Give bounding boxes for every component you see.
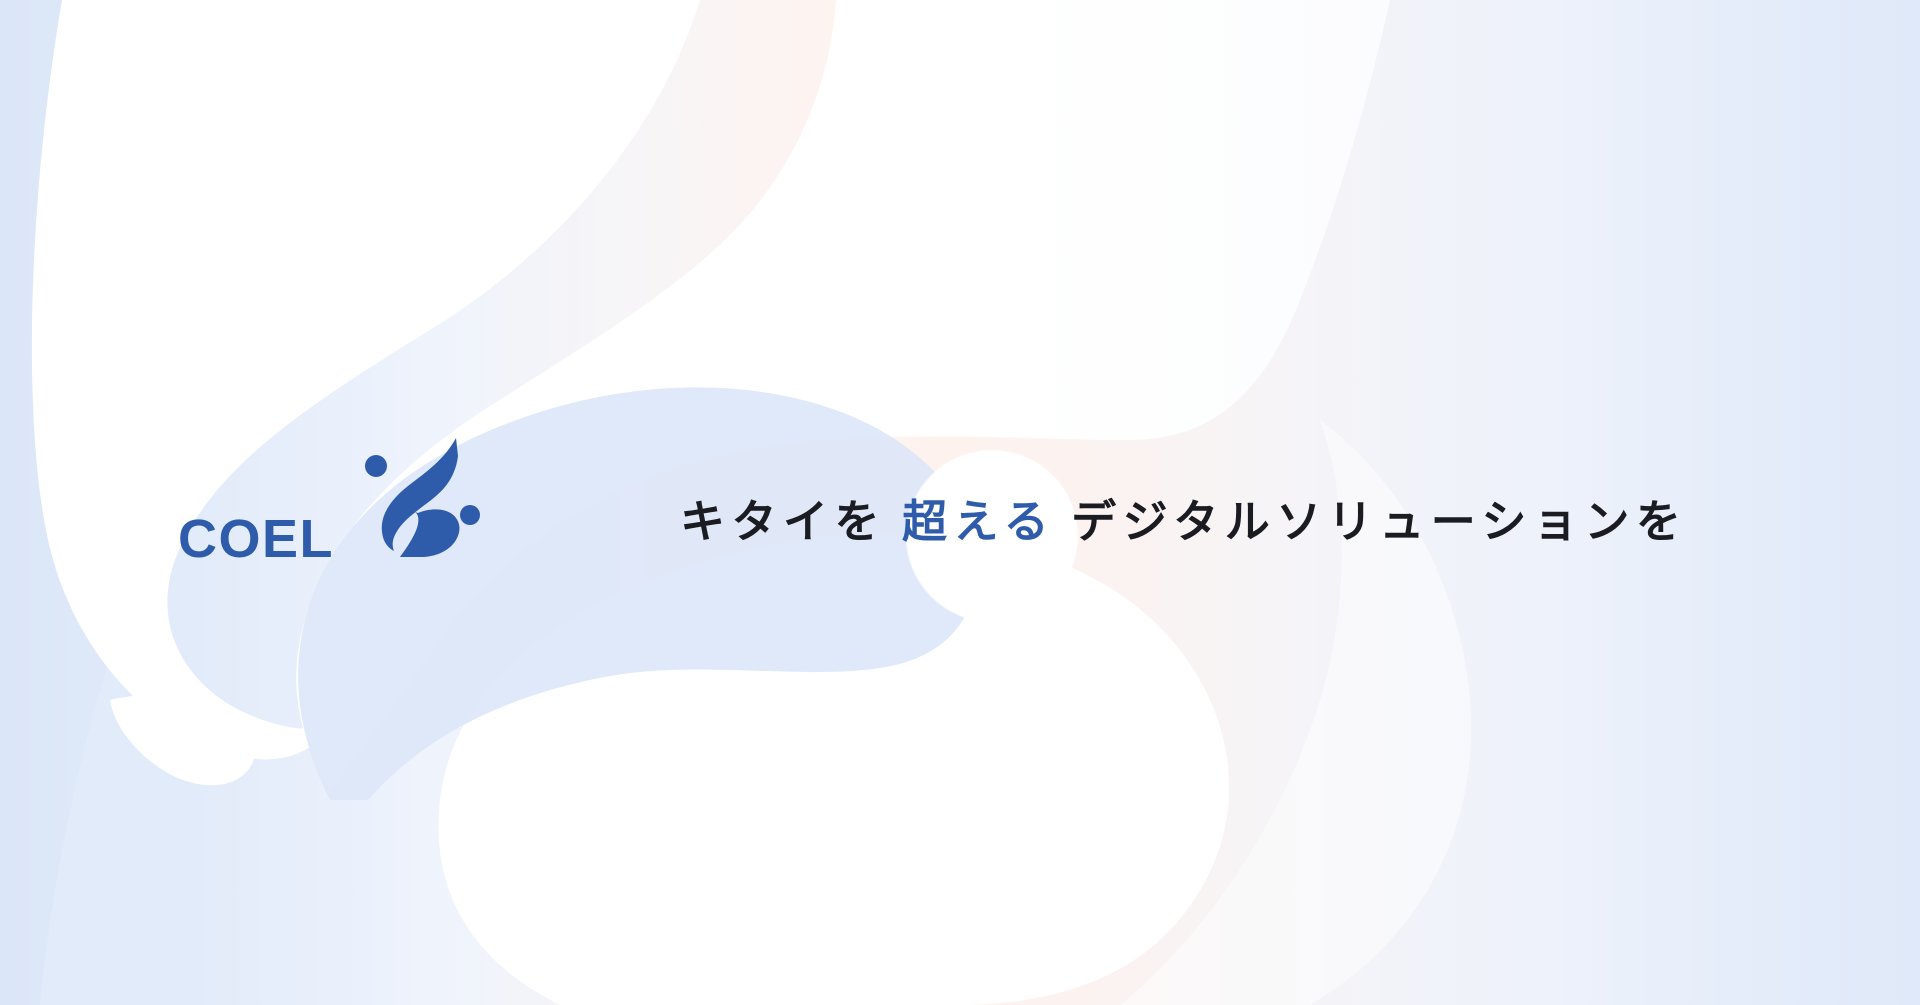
brand-logo-lockup[interactable]: COEL — [178, 430, 518, 580]
tagline-lead: キタイを — [680, 499, 886, 544]
coel-bird-swoosh-mark — [352, 430, 492, 570]
tagline-accent: 超える — [902, 499, 1055, 544]
tagline-trail: デジタルソリューションを — [1071, 499, 1687, 544]
logo-dot-top-left — [365, 455, 387, 477]
brand-wordmark: COEL — [178, 512, 334, 566]
hero-tagline: キタイを 超える デジタルソリューションを — [680, 481, 1687, 561]
logo-dot-right — [460, 505, 480, 525]
hero-banner: COEL キタイを 超える デジタルソリューションを — [0, 0, 1920, 1005]
